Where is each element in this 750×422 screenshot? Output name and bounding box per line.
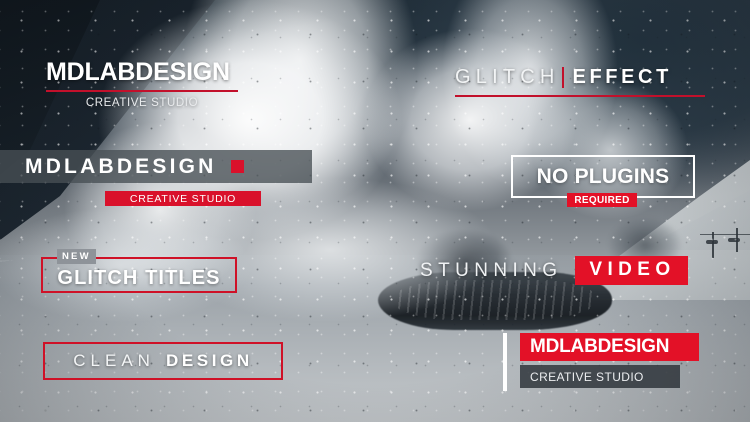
video-preview-stage: MDLABDESIGN CREATIVE STUDIO GLITCH EFFEC… bbox=[0, 0, 750, 422]
title-block-no-plugins[interactable]: NO PLUGINS REQUIRED bbox=[511, 155, 695, 198]
title-block-gray-bar-mdlabdesign[interactable]: MDLABDESIGN CREATIVE STUDIO bbox=[0, 150, 312, 206]
new-badge-label: NEW bbox=[57, 249, 96, 264]
dark-subtitle-bar: CREATIVE STUDIO bbox=[520, 365, 680, 388]
title-block-clean-design[interactable]: CLEAN DESIGN bbox=[43, 342, 283, 380]
red-underline-rule bbox=[46, 90, 238, 92]
title-block-glitch-titles[interactable]: NEW GLITCH TITLES bbox=[41, 257, 237, 293]
title-sub-text: REQUIRED bbox=[574, 195, 629, 206]
title-main-text: NO PLUGINS bbox=[537, 165, 670, 189]
white-outline-box: NO PLUGINS bbox=[511, 155, 695, 198]
title-main-text: MDLABDESIGN bbox=[25, 155, 217, 179]
red-square-icon bbox=[231, 160, 244, 173]
title-sub-text: CREATIVE STUDIO bbox=[130, 193, 236, 205]
red-subtitle-bar: CREATIVE STUDIO bbox=[105, 191, 261, 206]
title-main-text: MDLABDESIGN bbox=[530, 336, 669, 358]
red-underline-rule bbox=[455, 95, 705, 97]
title-main-text: GLITCH TITLES bbox=[41, 267, 237, 290]
title-block-glitch-effect[interactable]: GLITCH EFFECT bbox=[455, 66, 705, 97]
red-subtitle-bar: REQUIRED bbox=[567, 193, 637, 207]
red-title-bar: MDLABDESIGN bbox=[520, 333, 699, 361]
title-light-text: STUNNING bbox=[420, 260, 562, 282]
title-block-stunning-video[interactable]: STUNNING VIDEO bbox=[420, 256, 688, 285]
title-bold-text: DESIGN bbox=[166, 351, 253, 371]
title-row: GLITCH EFFECT bbox=[455, 66, 705, 89]
title-main-text: MDLABDESIGN bbox=[46, 60, 238, 85]
title-sub-text: CREATIVE STUDIO bbox=[530, 370, 644, 384]
title-sub-text: CREATIVE STUDIO bbox=[46, 97, 238, 109]
title-light-text: GLITCH bbox=[455, 66, 560, 89]
title-light-text: CLEAN bbox=[73, 351, 155, 371]
gray-title-bar: MDLABDESIGN bbox=[0, 150, 312, 183]
white-accent-bar bbox=[503, 333, 507, 391]
red-highlight-text: VIDEO bbox=[575, 256, 687, 285]
red-divider-bar bbox=[562, 67, 564, 88]
title-block-mdlabdesign-underline[interactable]: MDLABDESIGN CREATIVE STUDIO bbox=[46, 60, 238, 109]
title-bold-text: EFFECT bbox=[573, 66, 672, 89]
red-outline-box: CLEAN DESIGN bbox=[43, 342, 283, 380]
title-block-red-bar-mdlabdesign[interactable]: MDLABDESIGN CREATIVE STUDIO bbox=[503, 333, 699, 388]
